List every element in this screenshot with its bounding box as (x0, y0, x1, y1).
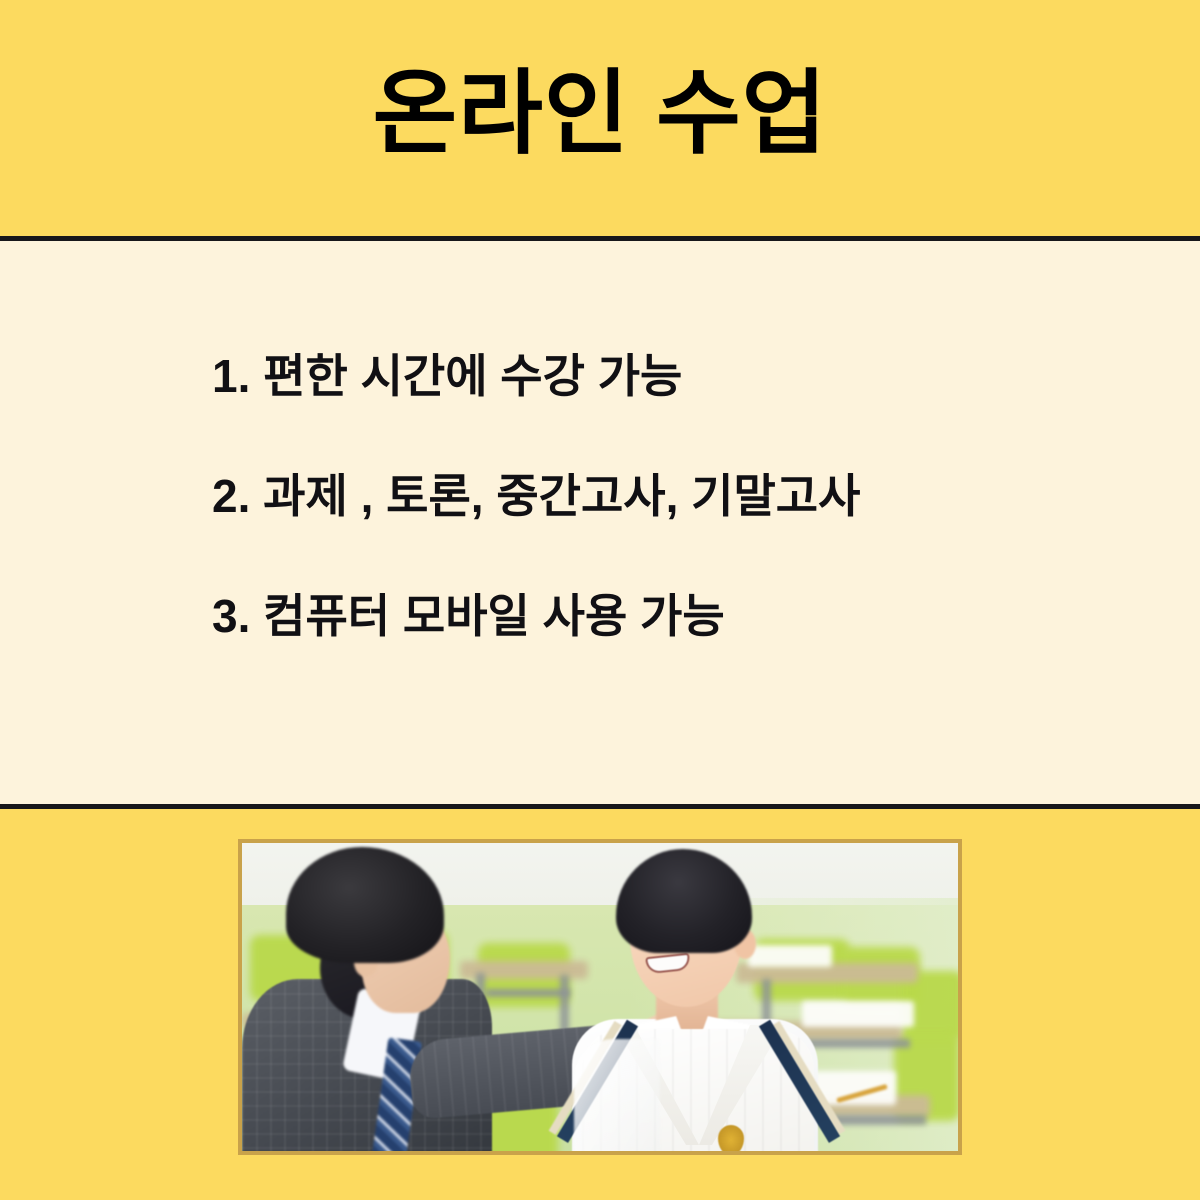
student-shoulder (574, 1039, 660, 1151)
background-desk-leg (486, 989, 570, 997)
background-paper (802, 1001, 914, 1027)
bullet-list: 1. 편한 시간에 수강 가능 2. 과제 , 토론, 중간고사, 기말고사 3… (212, 353, 860, 639)
list-item: 3. 컴퓨터 모바일 사용 가능 (212, 593, 860, 639)
page-title: 온라인 수업 (373, 68, 828, 168)
list-item: 2. 과제 , 토론, 중간고사, 기말고사 (212, 473, 860, 519)
slide-canvas: 온라인 수업 1. 편한 시간에 수강 가능 2. 과제 , 토론, 중간고사,… (0, 0, 1200, 1200)
student-vest-crest-icon (718, 1125, 744, 1151)
photo-scene (242, 843, 958, 1151)
list-item: 1. 편한 시간에 수강 가능 (212, 353, 860, 399)
background-paper (748, 945, 832, 967)
body-panel: 1. 편한 시간에 수강 가능 2. 과제 , 토론, 중간고사, 기말고사 3… (0, 241, 1200, 804)
header-band: 온라인 수업 (0, 0, 1200, 236)
classroom-photo (238, 839, 962, 1155)
footer-band (0, 809, 1200, 1200)
